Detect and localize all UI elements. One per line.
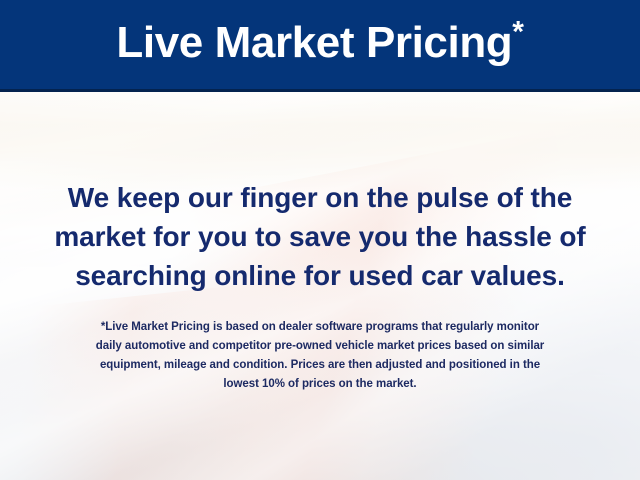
disclaimer-text: *Live Market Pricing is based on dealer … (20, 318, 620, 394)
disclaimer-line-1: *Live Market Pricing is based on dealer … (20, 318, 620, 337)
disclaimer-line-3: equipment, mileage and condition. Prices… (20, 356, 620, 375)
disclaimer-line-4: lowest 10% of prices on the market. (20, 375, 620, 394)
headline-line-1: We keep our finger on the pulse of the (0, 178, 640, 217)
page-title: Live Market Pricing* (116, 21, 523, 65)
header-band: Live Market Pricing* (0, 0, 640, 92)
disclaimer-line-2: daily automotive and competitor pre-owne… (20, 337, 620, 356)
live-market-pricing-banner: Live Market Pricing* We keep our finger … (0, 0, 640, 480)
headline-line-2: market for you to save you the hassle of (0, 217, 640, 256)
title-asterisk: * (512, 15, 523, 48)
headline: We keep our finger on the pulse of the m… (0, 178, 640, 295)
headline-line-3: searching online for used car values. (0, 256, 640, 295)
page-title-text: Live Market Pricing (116, 18, 512, 67)
